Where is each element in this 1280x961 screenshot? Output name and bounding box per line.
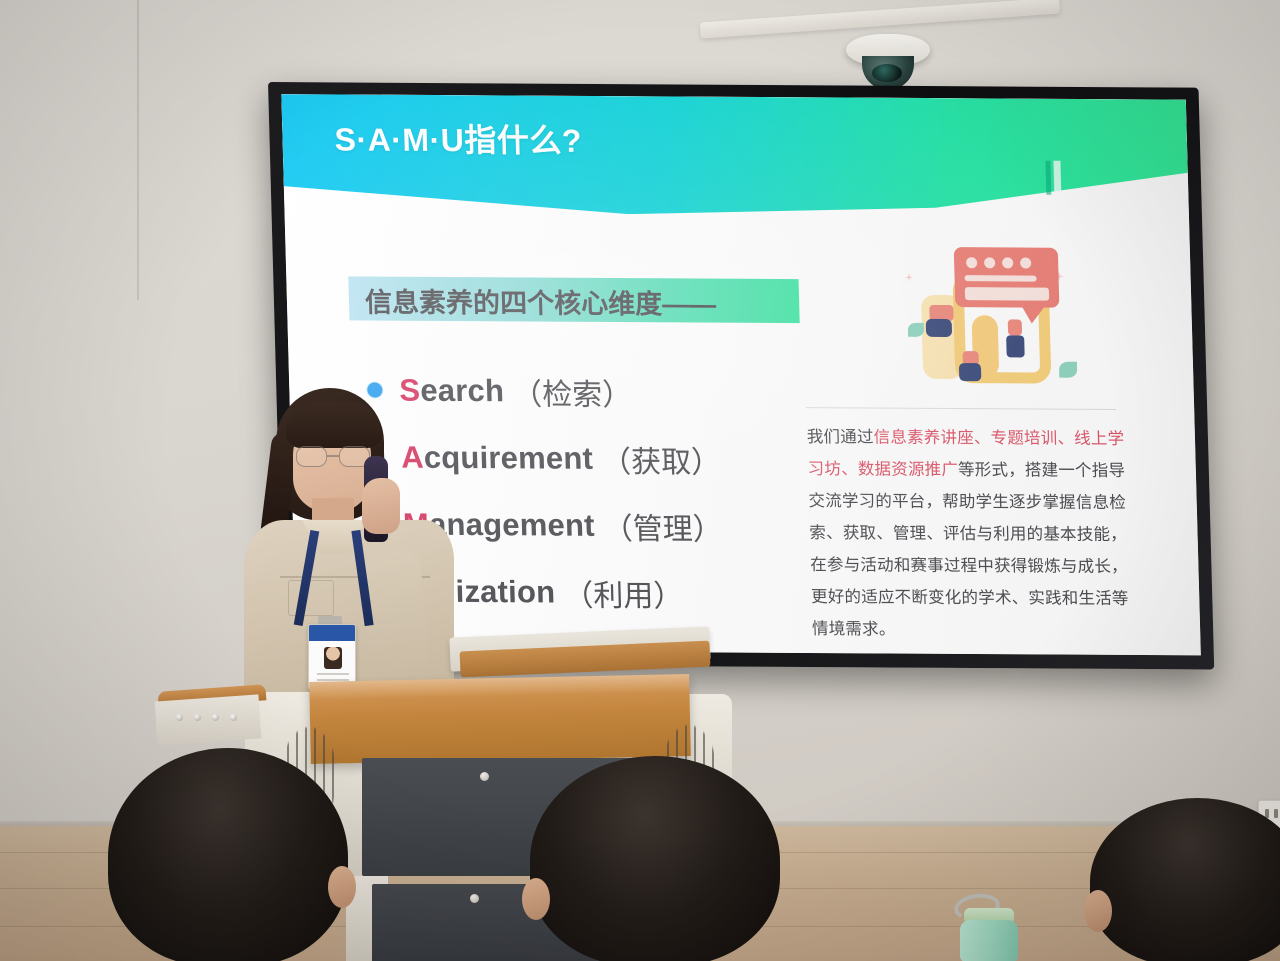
bubble-dot	[1020, 258, 1031, 269]
lectern-knob[interactable]	[230, 714, 237, 721]
bubble-dot	[966, 257, 977, 268]
bullet-chinese: （检索）	[511, 369, 632, 414]
lecture-hall-scene: S·A·M·U指什么? 信息素养的四个核心维度—— Search （检索） Ac…	[0, 0, 1280, 961]
slide-title: S·A·M·U指什么?	[334, 114, 583, 161]
bubble-line	[965, 287, 1049, 301]
paragraph-lead: 我们通过	[807, 428, 874, 446]
bottle-body	[960, 920, 1018, 961]
glasses-icon	[296, 446, 370, 468]
subheading-text: 信息素养的四个核心维度——	[364, 280, 716, 321]
person-figure	[1008, 319, 1022, 335]
bubble-line	[964, 275, 1036, 281]
header-accent-mark-dark	[1045, 161, 1051, 195]
hair	[1090, 798, 1280, 961]
shirt-pocket	[288, 580, 334, 616]
bullet-chinese: （利用）	[563, 570, 684, 615]
person-figure	[926, 319, 953, 337]
panel-screw	[480, 772, 489, 781]
person-figure	[1006, 335, 1025, 357]
hair	[530, 756, 780, 961]
paragraph-highlight-two: 数据资源推广	[858, 460, 959, 479]
hair	[108, 748, 348, 961]
wall-seam	[137, 0, 139, 300]
panel-screw	[470, 894, 479, 903]
lectern-rail-box	[155, 694, 262, 745]
lectern-knob[interactable]	[194, 714, 201, 721]
leaf-decoration	[1059, 362, 1077, 378]
ear	[328, 866, 356, 908]
presenter-fringe	[286, 402, 382, 448]
bubble-dot	[984, 257, 995, 268]
camera-lens	[872, 64, 902, 82]
ear	[1084, 890, 1112, 932]
sparkle-icon	[904, 273, 913, 282]
header-accent-mark	[1053, 161, 1061, 195]
chat-bubble-icon	[954, 247, 1060, 308]
bullet-chinese: （获取）	[600, 436, 721, 481]
bullet-chinese: （管理）	[602, 503, 723, 548]
audience-head-right	[1090, 798, 1280, 961]
ceiling-rail	[700, 0, 1060, 39]
leaf-decoration	[908, 323, 924, 337]
audience-head-center	[530, 756, 780, 961]
slide-paragraph: 我们通过信息素养讲座、专题培训、线上学习坊、数据资源推广等形式，搭建一个指导交流…	[806, 421, 1142, 647]
slide-illustration	[898, 243, 1092, 399]
lectern-wood-top	[309, 674, 691, 764]
presenter-hand	[362, 478, 400, 534]
bubble-dot	[1002, 257, 1013, 268]
paragraph-rest: 等形式，搭建一个指导交流学习的平台，帮助学生逐步掌握信息检索、获取、管理、评估与…	[808, 461, 1129, 639]
water-bottle[interactable]	[952, 898, 1026, 961]
content-divider	[806, 407, 1116, 410]
person-figure	[959, 363, 981, 381]
audience-head-left	[108, 748, 348, 961]
lectern-knob[interactable]	[176, 714, 183, 721]
ear	[522, 878, 550, 920]
lectern-knob[interactable]	[212, 714, 219, 721]
